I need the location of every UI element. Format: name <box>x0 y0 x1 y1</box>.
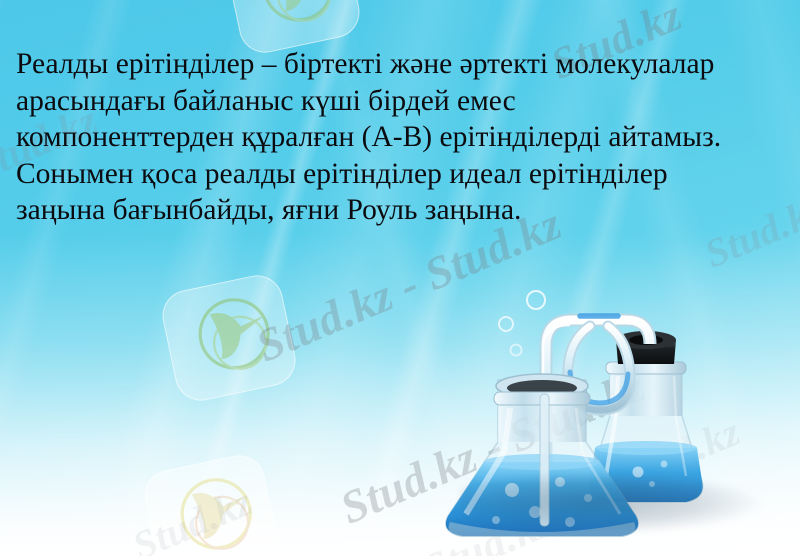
text-line: Сонымен қоса реалды ерітінділер идеал ер… <box>16 156 788 193</box>
chemistry-flasks-illustration <box>440 276 800 556</box>
ground-shadow <box>460 472 760 534</box>
paragraph: Реалды ерітінділер – біртекті және әртек… <box>16 46 788 229</box>
bubbles <box>499 291 545 356</box>
text-line: заңына бағынбайды, яғни Роуль заңына. <box>16 192 788 229</box>
slide-body-text: Реалды ерітінділер – біртекті және әртек… <box>16 46 788 229</box>
slide-canvas: Stud.kz Stud.kz - Stud.kz Stud.kz Stud.k… <box>0 0 800 556</box>
hummingbird-logo-icon <box>158 271 301 406</box>
text-line: компоненттерден құралған (А-В) ерітінділ… <box>16 119 788 156</box>
text-line: Реалды ерітінділер – біртекті және әртек… <box>16 46 788 83</box>
watermark-text: Stud.kz <box>126 478 259 556</box>
text-line: арасындағы байланыс күші бірдей емес <box>16 83 788 120</box>
hummingbird-logo-icon <box>140 451 283 556</box>
